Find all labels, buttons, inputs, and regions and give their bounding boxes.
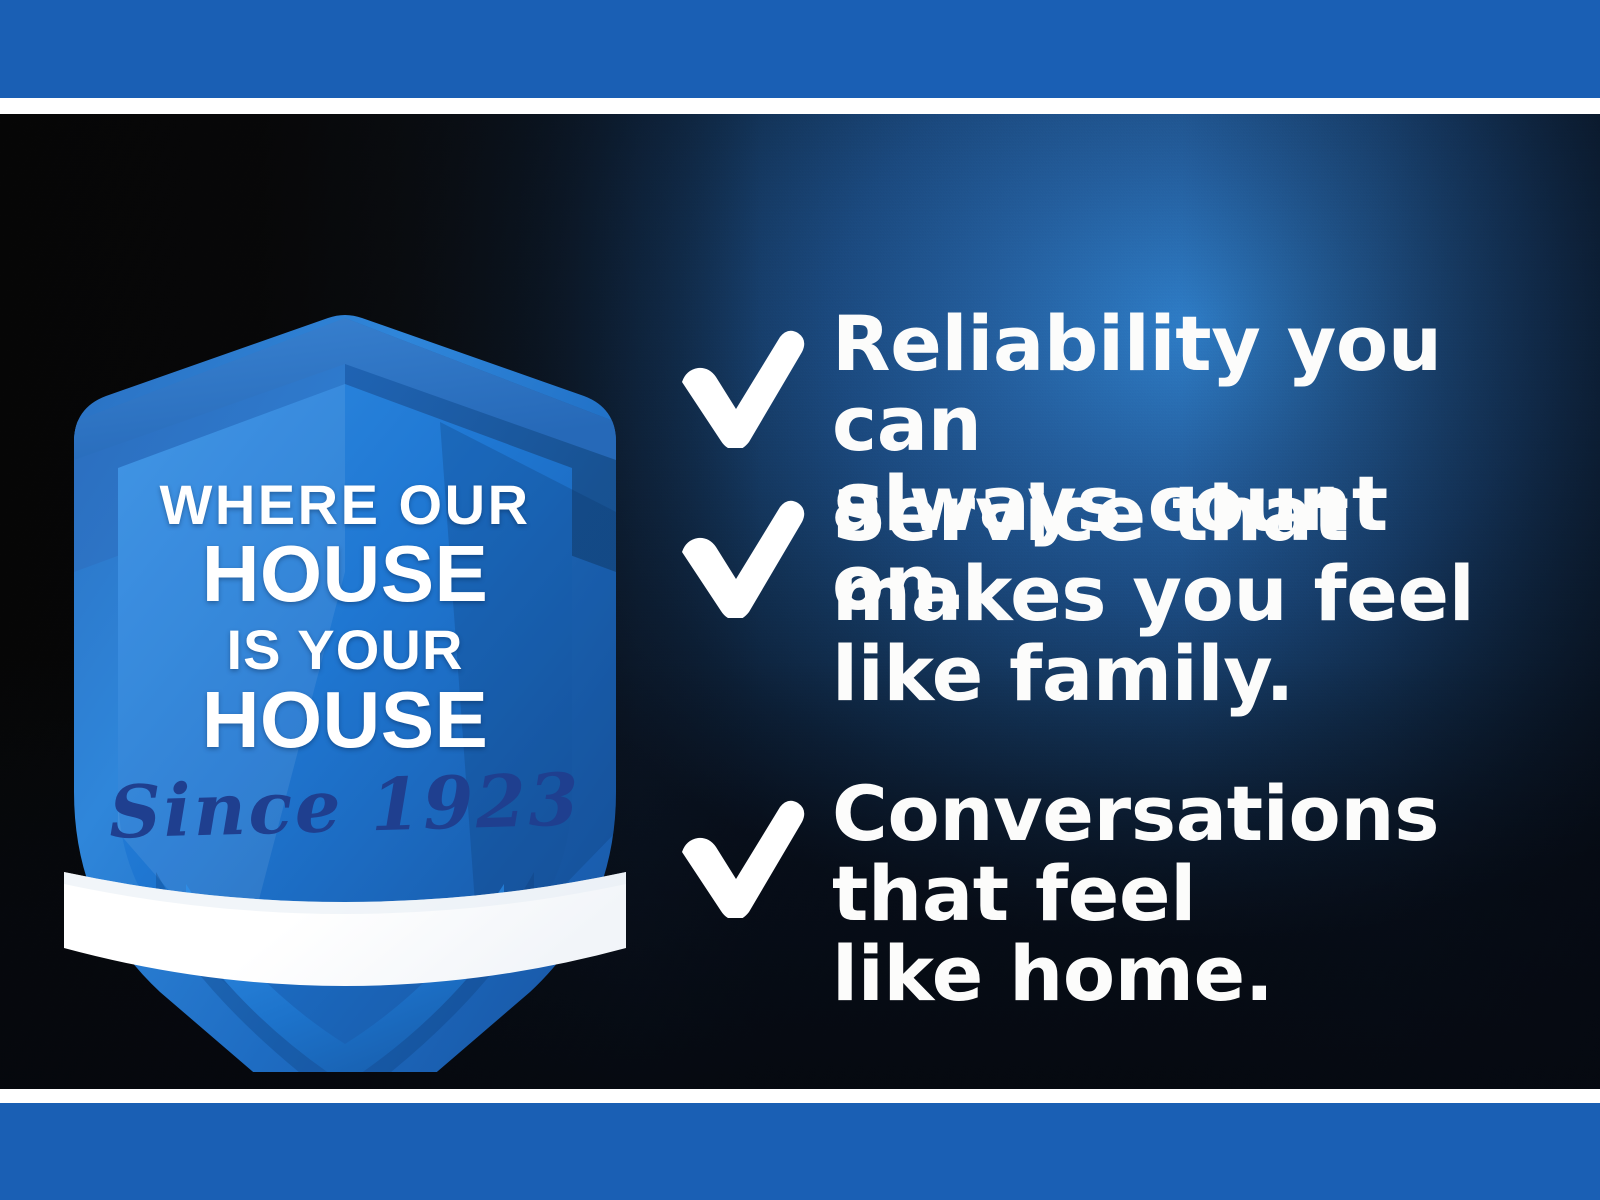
list-item-text: Service that makes you feel like family. [832,474,1475,713]
checkmark-icon [676,800,808,918]
bottom-brand-bar [0,1103,1600,1200]
list-item: Conversations that feel like home. [668,774,1528,1074]
benefits-list: Reliability you can always count on. Ser… [668,304,1528,1074]
list-item-text: Conversations that feel like home. [832,774,1439,1013]
checkmark-icon [676,330,808,448]
shield-icon [60,272,630,1072]
top-brand-bar [0,0,1600,98]
bottom-white-divider [0,1089,1600,1103]
list-item: Service that makes you feel like family. [668,474,1528,774]
list-item: Reliability you can always count on. [668,304,1528,474]
top-white-divider [0,98,1600,114]
promo-graphic: WHERE OUR HOUSE IS YOUR HOUSE Since 1923… [0,0,1600,1200]
main-stage: WHERE OUR HOUSE IS YOUR HOUSE Since 1923… [0,114,1600,1089]
shield-badge: WHERE OUR HOUSE IS YOUR HOUSE Since 1923 [60,272,630,1072]
checkmark-icon [676,500,808,618]
